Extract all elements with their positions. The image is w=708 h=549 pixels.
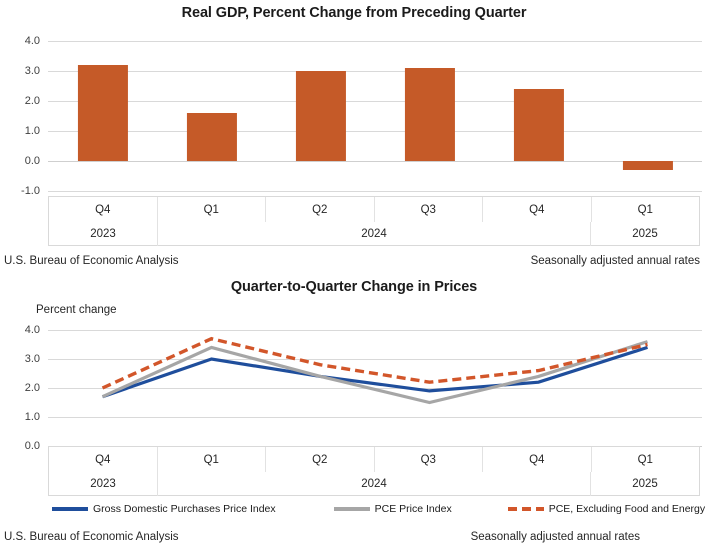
gdp-y-tick-3: 3.0 xyxy=(25,65,40,77)
bar-slot-3 xyxy=(375,36,484,196)
price-category-axis: Q4Q1Q2Q3Q4Q1 202320242025 xyxy=(48,446,700,496)
page-title: Real GDP, Percent Change from Preceding … xyxy=(0,5,708,21)
quarter-label-q4-4: Q4 xyxy=(483,447,592,472)
gdp-bar-q2-2024[interactable] xyxy=(295,71,345,161)
quarter-label-q1-5: Q1 xyxy=(592,447,700,472)
price-change-line-chart-panel: Quarter-to-Quarter Change in Prices Perc… xyxy=(0,275,708,549)
gdp-y-tick-0: 0.0 xyxy=(25,155,40,167)
gdp-bar-q4-2023[interactable] xyxy=(77,65,127,161)
price-y-tick-3: 3.0 xyxy=(25,353,40,365)
price-chart-title: Quarter-to-Quarter Change in Prices xyxy=(0,279,708,295)
gdp-bar-q4-2024[interactable] xyxy=(513,89,563,161)
price-line-svg xyxy=(48,325,702,451)
gdp-rates-note: Seasonally adjusted annual rates xyxy=(531,255,700,267)
line-series-2[interactable] xyxy=(103,339,648,388)
legend-swatch-dashed-icon xyxy=(508,507,544,511)
gdp-plot-area: 4.0 3.0 2.0 1.0 0.0 -1.0 xyxy=(0,36,702,196)
gdp-bar-series xyxy=(48,36,702,196)
quarter-label-q1-1: Q1 xyxy=(158,447,267,472)
gdp-plot xyxy=(48,36,702,196)
price-year-labels: 202320242025 xyxy=(49,472,699,496)
gdp-y-tick-1: 1.0 xyxy=(25,125,40,137)
price-rates-note: Seasonally adjusted annual rates xyxy=(471,531,640,543)
quarter-label-q4-0: Q4 xyxy=(49,197,158,222)
price-line-series xyxy=(48,325,702,451)
year-label-2025: 2025 xyxy=(591,472,699,496)
legend-label-2: PCE, Excluding Food and Energy xyxy=(549,503,705,515)
price-y-tick-2: 2.0 xyxy=(25,382,40,394)
legend-item-0[interactable]: Gross Domestic Purchases Price Index xyxy=(52,503,276,515)
gdp-bar-q3-2024[interactable] xyxy=(404,68,454,161)
price-legend: Gross Domestic Purchases Price IndexPCE … xyxy=(52,503,700,515)
quarter-label-q2-2: Q2 xyxy=(266,447,375,472)
year-label-2025: 2025 xyxy=(591,222,699,246)
year-label-2023: 2023 xyxy=(49,222,158,246)
bar-slot-4 xyxy=(484,36,593,196)
real-gdp-bar-chart-panel: Real GDP, Percent Change from Preceding … xyxy=(0,0,708,275)
price-plot-area: 4.0 3.0 2.0 1.0 0.0 xyxy=(0,325,702,451)
gdp-y-tick-2: 2.0 xyxy=(25,95,40,107)
quarter-label-q4-0: Q4 xyxy=(49,447,158,472)
quarter-label-q3-3: Q3 xyxy=(375,197,484,222)
bar-slot-0 xyxy=(48,36,157,196)
gdp-y-tick-neg1: -1.0 xyxy=(21,185,40,197)
legend-swatch-solid-icon xyxy=(334,507,370,511)
bar-slot-1 xyxy=(157,36,266,196)
gdp-quarter-labels: Q4Q1Q2Q3Q4Q1 xyxy=(49,197,699,222)
price-plot xyxy=(48,325,702,451)
legend-label-1: PCE Price Index xyxy=(375,503,452,515)
quarter-label-q1-1: Q1 xyxy=(158,197,267,222)
year-label-2024: 2024 xyxy=(158,222,591,246)
price-y-tick-1: 1.0 xyxy=(25,411,40,423)
legend-item-1[interactable]: PCE Price Index xyxy=(334,503,452,515)
gdp-category-axis: Q4Q1Q2Q3Q4Q1 202320242025 xyxy=(48,196,700,246)
price-y-tick-4: 4.0 xyxy=(25,324,40,336)
price-y-axis-labels: 4.0 3.0 2.0 1.0 0.0 xyxy=(0,325,44,451)
gdp-bar-q1-2025[interactable] xyxy=(622,161,672,170)
quarter-label-q3-3: Q3 xyxy=(375,447,484,472)
price-y-axis-title: Percent change xyxy=(36,304,117,316)
bar-slot-2 xyxy=(266,36,375,196)
quarter-label-q2-2: Q2 xyxy=(266,197,375,222)
year-label-2024: 2024 xyxy=(158,472,591,496)
gdp-y-axis-labels: 4.0 3.0 2.0 1.0 0.0 -1.0 xyxy=(0,36,44,196)
gdp-year-labels: 202320242025 xyxy=(49,222,699,246)
quarter-label-q1-5: Q1 xyxy=(592,197,700,222)
legend-item-2[interactable]: PCE, Excluding Food and Energy xyxy=(508,503,705,515)
gdp-source-note: U.S. Bureau of Economic Analysis xyxy=(4,255,179,267)
year-label-2023: 2023 xyxy=(49,472,158,496)
bar-slot-5 xyxy=(593,36,702,196)
price-quarter-labels: Q4Q1Q2Q3Q4Q1 xyxy=(49,447,699,472)
price-y-tick-0: 0.0 xyxy=(25,440,40,452)
gdp-bar-q1-2024[interactable] xyxy=(186,113,236,161)
quarter-label-q4-4: Q4 xyxy=(483,197,592,222)
gdp-y-tick-4: 4.0 xyxy=(25,35,40,47)
price-source-note: U.S. Bureau of Economic Analysis xyxy=(4,531,179,543)
legend-swatch-solid-icon xyxy=(52,507,88,511)
legend-label-0: Gross Domestic Purchases Price Index xyxy=(93,503,276,515)
